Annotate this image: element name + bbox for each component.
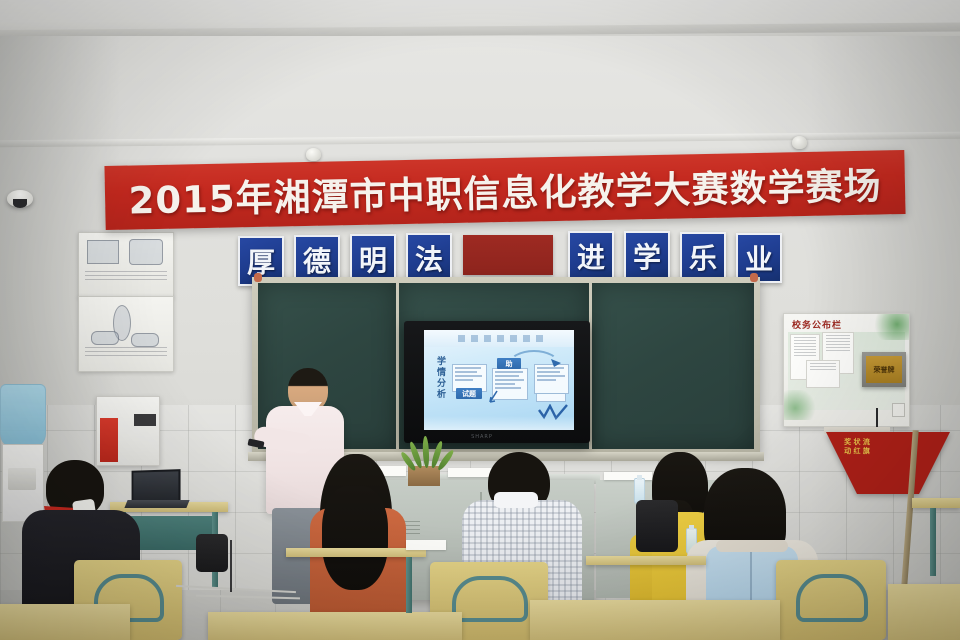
classroom-photo: 厚 德 明 法 进 学 乐 业 2015年湘潭市中职信息化教学大赛数学赛场 学情… bbox=[0, 0, 960, 640]
water-bottle bbox=[0, 384, 46, 448]
placard-jin: 进 bbox=[568, 231, 614, 281]
blackboard-clip-right bbox=[750, 273, 758, 282]
blackboard-clip-left bbox=[254, 273, 262, 282]
notice-board-decor-right bbox=[869, 314, 909, 340]
placard-char: 学 bbox=[633, 236, 661, 276]
laptop-keyboard[interactable] bbox=[124, 500, 189, 508]
security-camera-icon bbox=[7, 190, 33, 207]
placard-char: 进 bbox=[577, 236, 605, 276]
wall-unit-red-panel bbox=[100, 418, 118, 462]
placard-xue: 学 bbox=[624, 231, 670, 281]
front-desk-left bbox=[0, 604, 130, 640]
wall-unit-display bbox=[134, 414, 156, 426]
slide-header-bar bbox=[424, 330, 574, 347]
slide-box-3-footer bbox=[536, 393, 566, 402]
side-desk-right bbox=[912, 498, 960, 508]
placard-char: 法 bbox=[415, 238, 443, 278]
notes-on-desk bbox=[406, 540, 446, 550]
placard-le: 乐 bbox=[680, 232, 726, 282]
mid-desk-left bbox=[286, 548, 426, 557]
placard-ye: 业 bbox=[736, 233, 782, 283]
banner-mount-knob-right bbox=[792, 136, 807, 149]
placard-char: 乐 bbox=[689, 237, 717, 277]
hanging-cable bbox=[230, 540, 232, 592]
front-desk-right bbox=[888, 584, 960, 640]
slide-tag-shiti: 试题 bbox=[456, 388, 482, 399]
honor-plaque: 荣誉牌 bbox=[862, 352, 906, 387]
notice-board-title: 校务公布栏 bbox=[792, 318, 842, 331]
front-desk-center bbox=[208, 612, 462, 640]
red-wall-sign bbox=[463, 235, 553, 275]
chair-center-cutout bbox=[452, 576, 528, 622]
placard-char: 业 bbox=[745, 238, 773, 278]
backpack-right bbox=[636, 500, 678, 552]
pennant-text: 奖 状 流 动 红 旗 bbox=[842, 438, 872, 456]
mid-desk-left-leg bbox=[406, 557, 412, 613]
technical-poster-upper bbox=[78, 232, 174, 298]
honor-plaque-text: 荣誉牌 bbox=[866, 356, 902, 383]
backpack-left bbox=[196, 534, 228, 572]
woman-orange-hair-front bbox=[322, 486, 388, 590]
side-desk-right-leg bbox=[930, 508, 936, 576]
slide-arrowhead-icon bbox=[550, 358, 562, 370]
blackboard-panel-right bbox=[592, 283, 754, 449]
placard-fa: 法 bbox=[406, 233, 452, 283]
slide-section-title: 学情分析 bbox=[429, 356, 445, 400]
front-desk-center-2 bbox=[530, 600, 780, 640]
chair-right-cutout bbox=[796, 574, 868, 622]
placard-char: 德 bbox=[303, 240, 331, 280]
water-dispenser-panel[interactable] bbox=[8, 468, 36, 490]
banner-mount-knob-left bbox=[306, 148, 321, 161]
notice-board-decor-left bbox=[783, 390, 818, 420]
woman-blue-collar bbox=[716, 540, 788, 552]
man-checkered-collar bbox=[494, 492, 538, 508]
projection-screen[interactable]: 学情分析 试题 助 bbox=[424, 330, 574, 430]
slide-arrow-down-icon bbox=[486, 390, 500, 406]
technical-poster-lower bbox=[78, 296, 174, 372]
notice-sheet-3 bbox=[806, 360, 840, 388]
placard-char: 明 bbox=[359, 239, 387, 279]
slide-footer-gradient bbox=[424, 416, 574, 430]
mid-desk-right bbox=[586, 556, 706, 565]
